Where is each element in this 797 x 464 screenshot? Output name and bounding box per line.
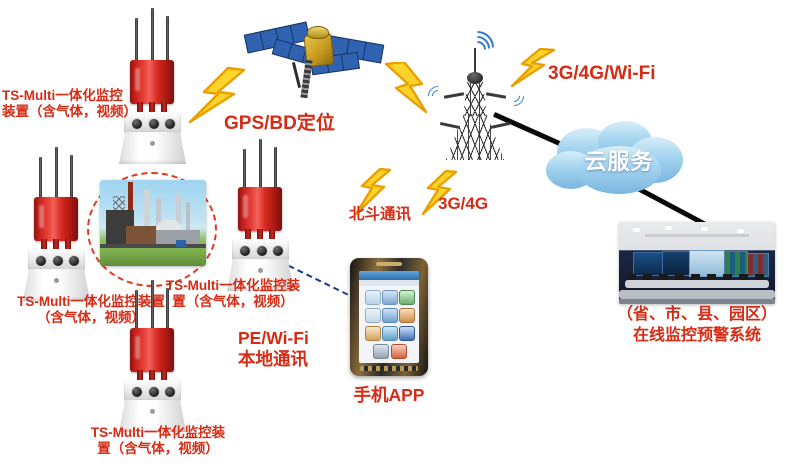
- pda-top-port: [376, 262, 402, 266]
- pda-app-icon-8[interactable]: [382, 326, 398, 341]
- refinery-blue-unit: [176, 240, 186, 247]
- device-base-cone: [119, 132, 186, 164]
- ceiling-light-4: [737, 229, 744, 233]
- ceiling-light-3: [701, 227, 708, 231]
- control-room-scene: [619, 222, 775, 304]
- local-link-label: PE/Wi-Fi 本地通讯: [238, 328, 358, 369]
- cloud-service[interactable]: 云服务: [541, 118, 697, 200]
- pda-bottom-grip: [360, 366, 418, 371]
- device-bottom-label: TS-Multi一体化监控装 置（含气体，视频）: [62, 425, 254, 458]
- device-antenna-right: [166, 16, 169, 66]
- pda-status-bar: [359, 271, 419, 280]
- device-body: [34, 197, 78, 241]
- device-bottom[interactable]: [110, 276, 194, 436]
- ceiling-light-1: [633, 228, 640, 232]
- refinery-site-photo: [100, 180, 206, 266]
- pda-app-icon-4[interactable]: [365, 308, 381, 323]
- tower-antenna-arm-right2: [490, 122, 510, 129]
- device-antenna-mid: [151, 280, 154, 334]
- video-wall-screen-2: [662, 251, 690, 276]
- pda-app-icon-3[interactable]: [399, 290, 415, 305]
- device-base-indicator: [258, 268, 263, 273]
- refinery-building-a: [126, 226, 156, 244]
- device-sensor-port-3: [164, 118, 176, 130]
- video-wall-screen-1: [633, 252, 663, 276]
- pda-app-icon-11[interactable]: [391, 344, 407, 359]
- cell-tower: [428, 20, 524, 160]
- device-antenna-right: [70, 155, 73, 203]
- device-sensor-port-2: [52, 255, 64, 267]
- refinery-grass: [100, 248, 206, 266]
- ceiling-light-2: [665, 226, 672, 230]
- device-mid-right[interactable]: [218, 135, 302, 295]
- device-antenna-mid: [259, 139, 262, 193]
- device-base-indicator: [150, 141, 155, 146]
- gps-link-label: GPS/BD定位: [224, 112, 354, 135]
- device-sensor-port-1: [239, 245, 251, 257]
- console-desk-row-2: [619, 290, 775, 299]
- device-sensor-port-1: [131, 386, 143, 398]
- device-base-indicator: [54, 278, 59, 283]
- video-wall-screen-3: [689, 250, 725, 277]
- ceiling-panel: [645, 234, 749, 237]
- satellite-mast: [300, 60, 312, 99]
- pda-app-icon-7[interactable]: [365, 326, 381, 341]
- device-antenna-mid: [151, 8, 154, 66]
- device-antenna-mid: [55, 147, 58, 203]
- pda-app-icon-6[interactable]: [399, 308, 415, 323]
- pda-screen[interactable]: [359, 271, 419, 363]
- device-sensor-port-2: [256, 245, 268, 257]
- device-sensor-port-2: [148, 386, 160, 398]
- tower-wifi-icon-arc3: [454, 24, 501, 71]
- pda-app-icon-5[interactable]: [382, 308, 398, 323]
- satellite-antenna-arm: [292, 62, 301, 88]
- device-top-left-label: TS-Multi一体化监控 装置（含气体，视频）: [2, 88, 142, 121]
- satellite: [243, 12, 383, 100]
- pda-app-icon-10[interactable]: [373, 344, 389, 359]
- cellular-link-label: 3G/4G: [438, 194, 518, 215]
- device-body: [130, 328, 174, 372]
- pda-app-icon-9[interactable]: [399, 326, 415, 341]
- device-antenna-left: [135, 18, 138, 66]
- control-center-photo: [619, 222, 775, 304]
- diagram-canvas: 云服务: [0, 0, 797, 464]
- pda-app-icon-1[interactable]: [365, 290, 381, 305]
- monitor-row: [627, 274, 767, 280]
- tower-lattice-upper: [461, 82, 489, 116]
- mobile-app-label: 手机APP: [334, 385, 444, 406]
- pda-app-icon-2[interactable]: [382, 290, 398, 305]
- control-center-label: （省、市、县、园区） 在线监控预警系统: [597, 305, 797, 347]
- device-sensor-port-3: [272, 245, 284, 257]
- tower-lattice-lower: [446, 114, 504, 160]
- device-sensor-port-1: [35, 255, 47, 267]
- device-mid-left[interactable]: [14, 145, 98, 305]
- refinery-scene: [100, 180, 206, 266]
- mobile-link-label: 3G/4G/Wi-Fi: [548, 62, 708, 85]
- console-desk-row-1: [625, 280, 769, 288]
- device-sensor-port-3: [68, 255, 80, 267]
- device-base-indicator: [150, 409, 155, 414]
- device-sensor-port-2: [148, 118, 160, 130]
- bolt-satellite-to-tower: [378, 62, 442, 114]
- device-sensor-port-3: [164, 386, 176, 398]
- pda-title-bar: [359, 280, 419, 286]
- satellite-dish: [307, 26, 329, 39]
- tower-antenna-arm-left2: [440, 122, 460, 129]
- mobile-app-device[interactable]: [350, 258, 428, 376]
- floor: [619, 299, 775, 304]
- device-body: [238, 187, 282, 231]
- cloud-service-label: 云服务: [541, 144, 697, 176]
